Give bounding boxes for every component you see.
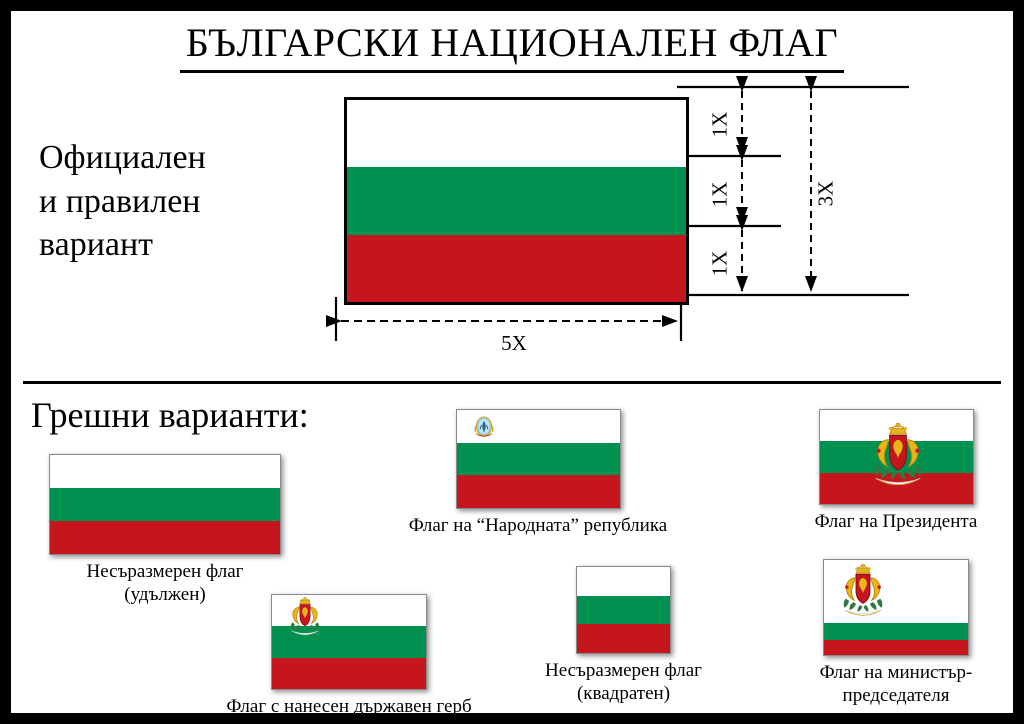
flag-president <box>819 409 974 505</box>
flag-square <box>576 566 671 654</box>
section-divider <box>23 381 1001 384</box>
variant-prime-minister: Флаг на министър- председателя <box>763 559 1024 708</box>
variant-caption: Флаг на “Народната” република <box>363 515 713 538</box>
variant-caption: Флаг на Президента <box>763 511 1024 534</box>
dim-label-5x-width: 5X <box>489 331 539 356</box>
variant-caption: Флаг с нанесен държавен герб <box>139 696 559 719</box>
flag-stripe-red <box>347 235 686 302</box>
dim-label-1x-green: 1X <box>708 175 733 215</box>
variant-caption: Флаг на министър- председателя <box>763 662 1024 708</box>
poster-canvas: БЪЛГАРСКИ НАЦИОНАЛЕН ФЛАГ Официален и пр… <box>11 11 1013 713</box>
variant-state-coat-of-arms: Флаг с нанесен държавен герб <box>139 594 559 719</box>
variant-peoples-republic: Флаг на “Народната” република <box>363 409 713 538</box>
variant-elongated: Несъразмерен флаг (удължен) <box>25 454 305 607</box>
flag-stripe-green <box>457 443 620 476</box>
flag-stripe-white <box>347 100 686 167</box>
flag-elongated <box>49 454 281 555</box>
flag-stripe-red <box>824 640 968 655</box>
flag-stripe-white <box>50 455 280 488</box>
variant-caption: Несъразмерен флаг (квадратен) <box>501 660 746 706</box>
poster-frame: БЪЛГАРСКИ НАЦИОНАЛЕН ФЛАГ Официален и пр… <box>0 0 1024 724</box>
variant-square: Несъразмерен флаг (квадратен) <box>501 566 746 706</box>
dim-label-1x-red: 1X <box>708 244 733 284</box>
prb-emblem-icon <box>469 413 499 443</box>
flag-prime-minister <box>823 559 969 656</box>
flag-stripe-white <box>577 567 670 596</box>
flag-stripe-red <box>577 624 670 653</box>
flag-stripe-green <box>50 488 280 521</box>
variant-president: Флаг на Президента <box>763 409 1024 534</box>
flag-peoples-republic <box>456 409 621 509</box>
flag-state-coat-of-arms <box>271 594 427 690</box>
flag-stripe-green <box>824 623 968 640</box>
flag-stripe-red <box>457 475 620 508</box>
flag-stripe-red <box>50 521 280 554</box>
coat-of-arms-icon <box>863 423 933 495</box>
wrong-variants-heading: Грешни варианти: <box>31 394 309 436</box>
dim-label-1x-white: 1X <box>708 105 733 145</box>
dim-label-3x-height: 3X <box>814 174 839 214</box>
flag-stripe-green <box>577 596 670 625</box>
coat-of-arms-icon <box>832 564 894 624</box>
flag-stripe-red <box>272 658 426 689</box>
coat-of-arms-icon <box>283 597 327 641</box>
flag-stripe-green <box>347 167 686 234</box>
official-flag <box>344 97 689 305</box>
